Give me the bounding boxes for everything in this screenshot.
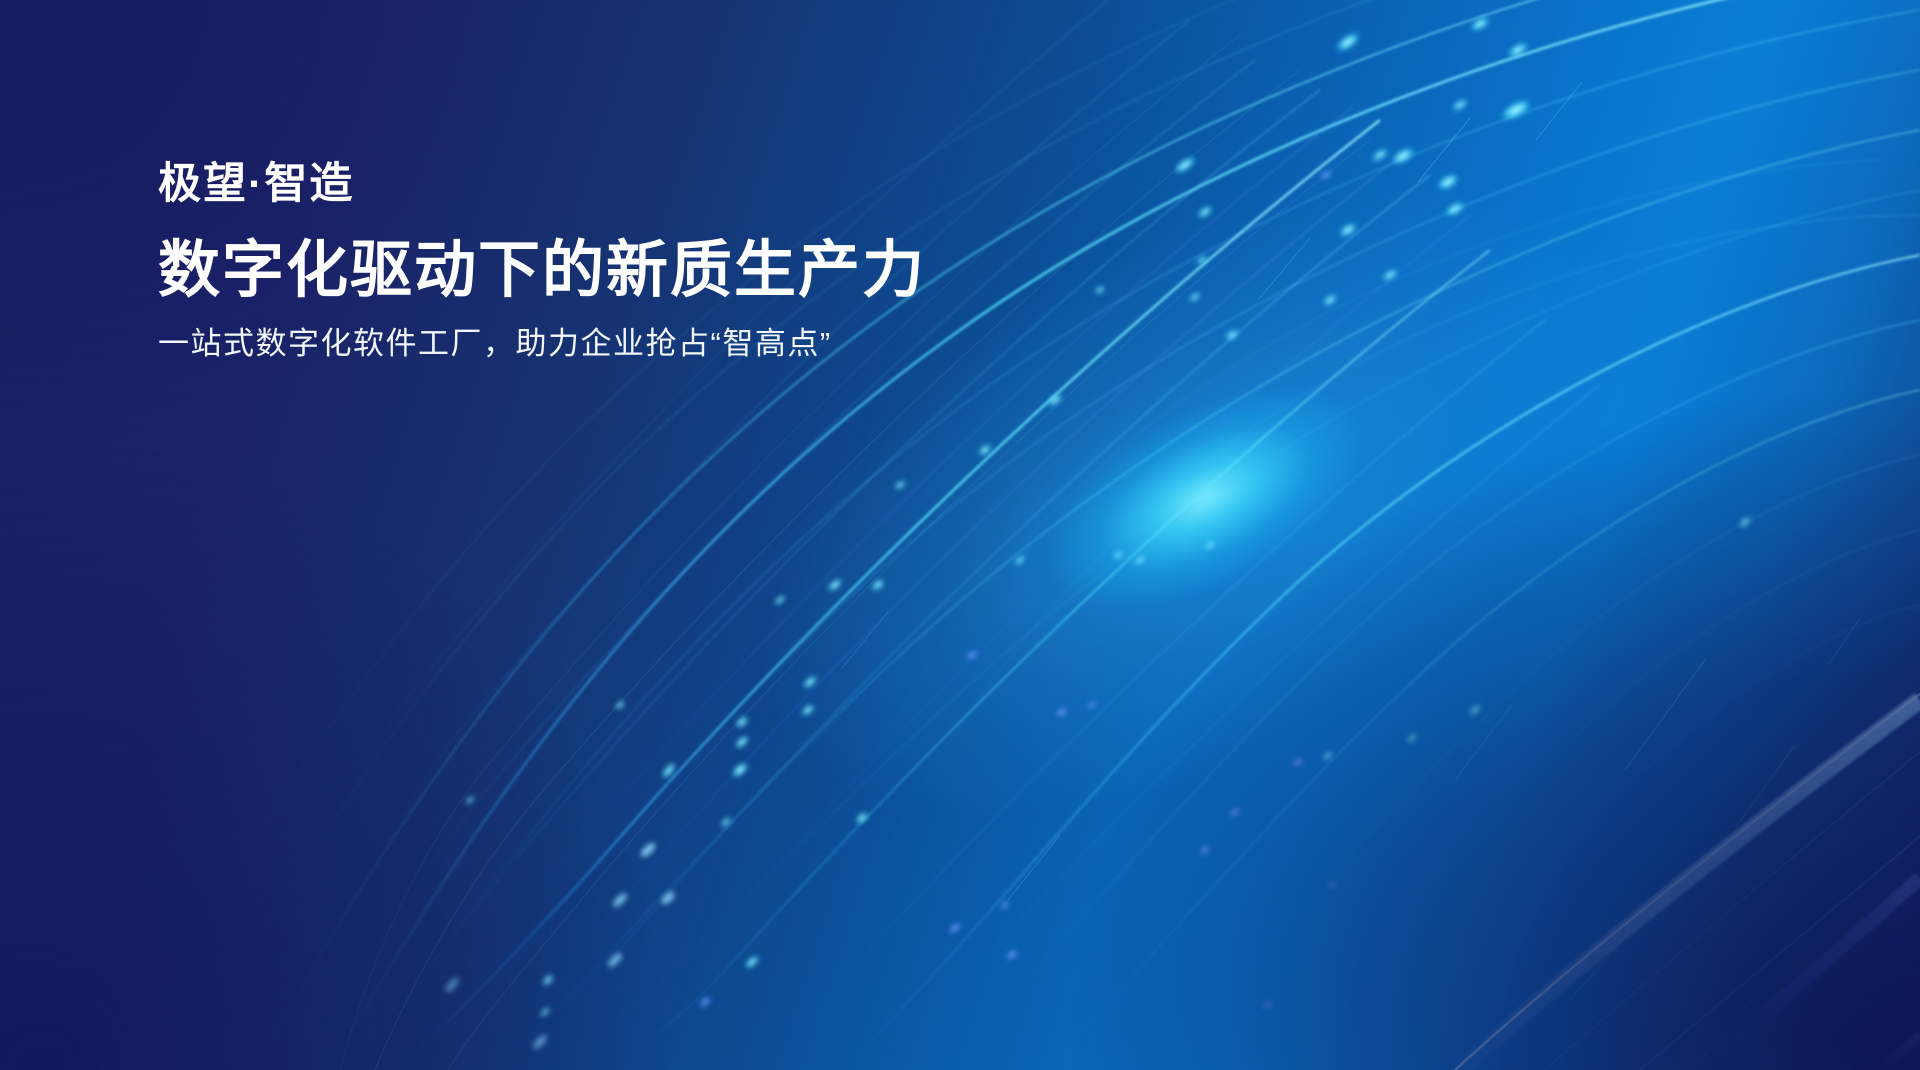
light-bands-bottom-right [1455, 694, 1920, 1070]
brand-eyebrow: 极望·智造 [158, 160, 926, 209]
swirl-arcs-inner [800, 160, 1920, 1070]
hero-copy: 极望·智造 数字化驱动下的新质生产力 一站式数字化软件工厂，助力企业抢占“智高点… [158, 160, 926, 364]
hero-banner: 极望·智造 数字化驱动下的新质生产力 一站式数字化软件工厂，助力企业抢占“智高点… [0, 0, 1920, 1070]
hero-tagline: 一站式数字化软件工厂，助力企业抢占“智高点” [158, 324, 926, 364]
hero-headline: 数字化驱动下的新质生产力 [158, 237, 926, 305]
